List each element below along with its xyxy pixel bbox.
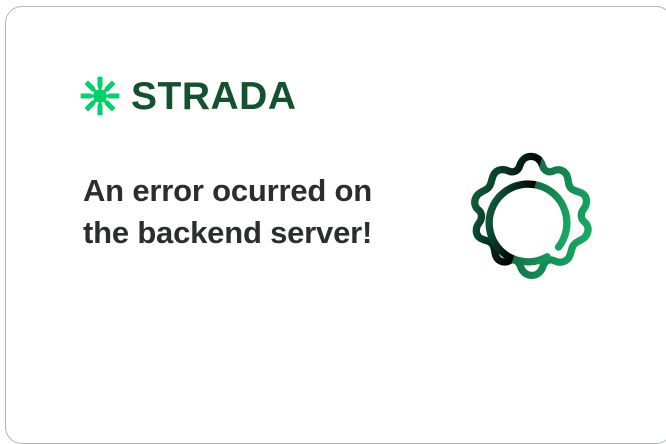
strada-asterisk-icon [79,75,121,117]
brand-lockup: STRADA [79,75,297,117]
error-headline: An error ocurred on the backend server! [83,170,383,254]
gear-icon [450,145,612,307]
brand-wordmark: STRADA [131,77,297,116]
error-card: STRADA An error ocurred on the backend s… [5,6,666,444]
